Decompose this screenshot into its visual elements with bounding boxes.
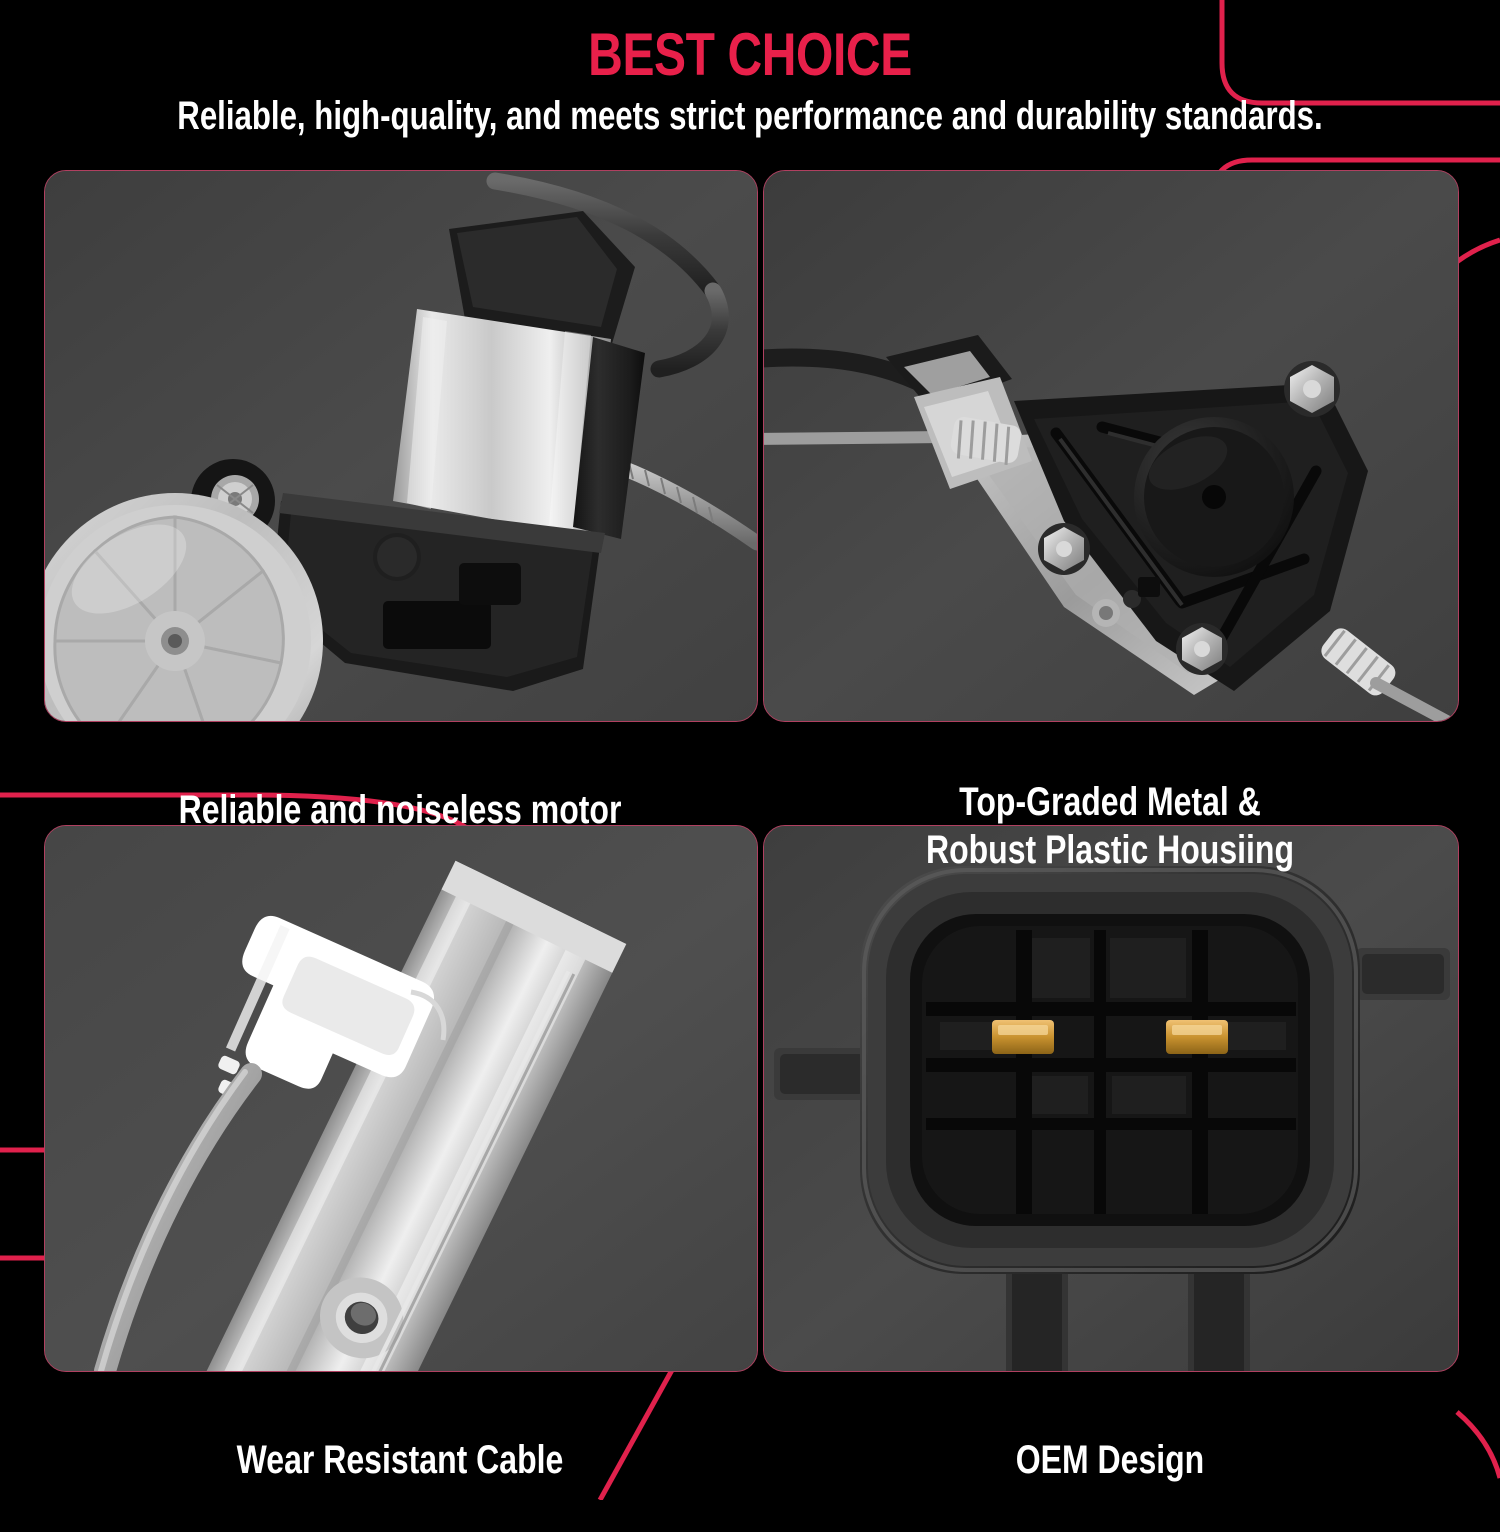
page-subtitle: Reliable, high-quality, and meets strict…: [165, 94, 1335, 138]
caption-connector-text: OEM Design: [832, 1436, 1387, 1484]
caption-housing: Top-Graded Metal & Robust Plastic Housii…: [763, 730, 1457, 922]
page-title: BEST CHOICE: [150, 24, 1350, 86]
housing-photo: [764, 171, 1458, 721]
caption-motor-text: Reliable and noiseless motor: [115, 786, 685, 834]
caption-housing-text: Top-Graded Metal & Robust Plastic Housii…: [832, 778, 1387, 874]
panel-cable: [44, 825, 758, 1372]
motor-photo: [45, 171, 757, 721]
panel-motor: [44, 170, 758, 722]
caption-connector: OEM Design: [763, 1388, 1457, 1532]
cable-photo: [45, 826, 757, 1371]
caption-motor: Reliable and noiseless motor: [44, 738, 756, 882]
caption-cable-text: Wear Resistant Cable: [115, 1436, 685, 1484]
panel-housing: [763, 170, 1459, 722]
caption-cable: Wear Resistant Cable: [44, 1388, 756, 1532]
header: BEST CHOICE Reliable, high-quality, and …: [0, 0, 1500, 138]
infographic-stage: BEST CHOICE Reliable, high-quality, and …: [0, 0, 1500, 1500]
